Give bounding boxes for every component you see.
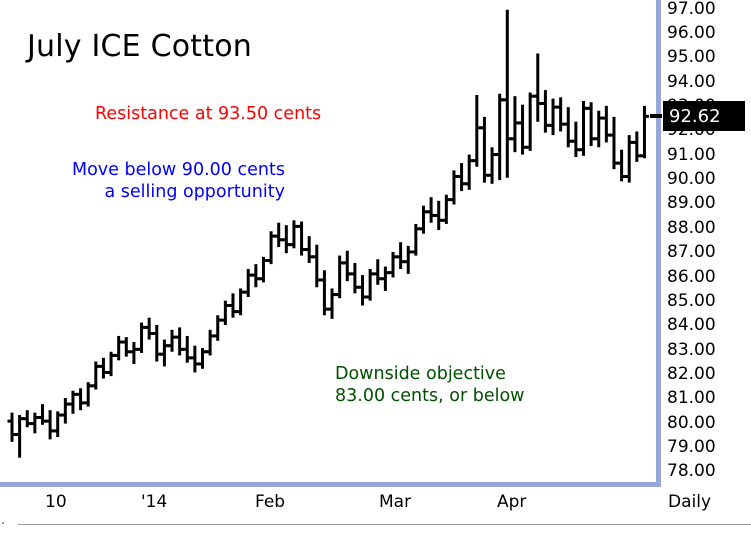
- chart-root: July ICE Cotton Resistance at 93.50 cent…: [0, 0, 751, 534]
- last-price-tickmark: [650, 114, 662, 118]
- ohlc-bar: [419, 206, 428, 234]
- price-tick-88-00: 88.00: [667, 218, 716, 238]
- ohlc-bar: [114, 336, 123, 360]
- price-tick-79-00: 79.00: [667, 437, 716, 457]
- ohlc-bar: [343, 251, 352, 281]
- ohlc-bar: [61, 398, 70, 424]
- ohlc-bar: [190, 346, 199, 373]
- ohlc-bar: [350, 263, 359, 293]
- ohlc-bar: [175, 327, 184, 355]
- ohlc-bar: [609, 117, 618, 169]
- support-annotation-line1: Move below 90.00 cents: [72, 160, 285, 180]
- ohlc-bar: [571, 122, 580, 157]
- support-annotation-line2: a selling opportunity: [72, 181, 285, 203]
- ohlc-bar: [495, 94, 504, 180]
- ohlc-bar: [640, 106, 649, 158]
- ohlc-bar: [358, 275, 367, 305]
- ohlc-bar: [480, 117, 489, 183]
- price-tick-94-00: 94.00: [667, 72, 716, 92]
- price-tick-95-00: 95.00: [667, 47, 716, 67]
- price-tick-83-00: 83.00: [667, 340, 716, 360]
- ohlc-bar: [602, 106, 611, 143]
- ohlc-bar: [122, 337, 131, 356]
- ohlc-bar: [152, 325, 161, 362]
- ohlc-bar: [145, 318, 154, 340]
- objective-annotation-line1: Downside objective: [335, 364, 506, 384]
- ohlc-bar: [457, 163, 466, 191]
- ohlc-bar: [404, 246, 413, 274]
- ohlc-bar: [503, 10, 512, 178]
- ohlc-bar: [533, 54, 542, 122]
- bottom-left-marker: [2, 522, 4, 524]
- price-tick-87-00: 87.00: [667, 242, 716, 262]
- objective-annotation-line2: 83.00 cents, or below: [335, 385, 524, 407]
- ohlc-bar: [282, 225, 291, 253]
- ohlc-bar: [594, 111, 603, 148]
- ohlc-bar: [434, 201, 443, 230]
- ohlc-bar: [160, 340, 169, 367]
- last-price-tag: 92.62: [663, 101, 745, 131]
- price-tick-89-00: 89.00: [667, 193, 716, 213]
- price-tick-96-00: 96.00: [667, 23, 716, 43]
- time-tick-Mar: Mar: [379, 492, 411, 512]
- ohlc-bar: [30, 413, 39, 434]
- price-tick-86-00: 86.00: [667, 267, 716, 287]
- ohlc-bar: [328, 288, 337, 318]
- price-tick-82-00: 82.00: [667, 364, 716, 384]
- ohlc-bar: [15, 415, 24, 458]
- ohlc-bars: [0, 0, 656, 482]
- price-tick-80-00: 80.00: [667, 413, 716, 433]
- bottom-divider: [18, 524, 751, 525]
- price-tick-97-00: 97.00: [667, 0, 716, 19]
- ohlc-bar: [305, 236, 314, 263]
- ohlc-bar: [472, 95, 481, 167]
- ohlc-bar: [8, 413, 17, 442]
- ohlc-bar: [228, 293, 237, 317]
- ohlc-bar: [632, 131, 641, 161]
- ohlc-bar: [396, 242, 405, 269]
- support-annotation: Move below 90.00 cents a selling opportu…: [72, 159, 285, 203]
- ohlc-bar: [129, 342, 138, 364]
- ohlc-bar: [488, 147, 497, 184]
- ohlc-bar: [549, 99, 558, 136]
- ohlc-bar: [251, 264, 260, 287]
- price-axis[interactable]: 97.0096.0095.0094.0093.0092.0091.0090.00…: [661, 0, 751, 482]
- objective-annotation: Downside objective 83.00 cents, or below: [335, 363, 524, 407]
- ohlc-bar: [168, 330, 177, 352]
- price-tick-81-00: 81.00: [667, 388, 716, 408]
- price-tick-90-00: 90.00: [667, 169, 716, 189]
- ohlc-bar: [206, 330, 215, 356]
- ohlc-bar: [373, 259, 382, 285]
- resistance-annotation: Resistance at 93.50 cents: [95, 103, 321, 125]
- ohlc-bar: [244, 269, 253, 297]
- price-tick-85-00: 85.00: [667, 291, 716, 311]
- ohlc-bar: [274, 223, 283, 247]
- ohlc-bar: [46, 410, 55, 439]
- ohlc-bar: [556, 97, 565, 131]
- time-tick-14: '14: [141, 492, 167, 512]
- ohlc-bar: [427, 197, 436, 223]
- ohlc-bar: [526, 93, 535, 151]
- price-tick-91-00: 91.00: [667, 145, 716, 165]
- time-tick-10: 10: [45, 492, 67, 512]
- price-plot-area[interactable]: [0, 0, 656, 482]
- interval-label: Daily: [668, 492, 711, 512]
- time-axis[interactable]: Daily 10'14FebMarApr: [0, 487, 751, 525]
- time-tick-Feb: Feb: [255, 492, 285, 512]
- ohlc-bar: [76, 388, 85, 410]
- price-tick-84-00: 84.00: [667, 315, 716, 335]
- ohlc-bar: [289, 220, 298, 248]
- ohlc-bar: [381, 267, 390, 291]
- time-tick-Apr: Apr: [497, 492, 526, 512]
- price-tick-78-00: 78.00: [667, 461, 716, 481]
- chart-title: July ICE Cotton: [27, 29, 252, 64]
- ohlc-bar: [99, 358, 108, 379]
